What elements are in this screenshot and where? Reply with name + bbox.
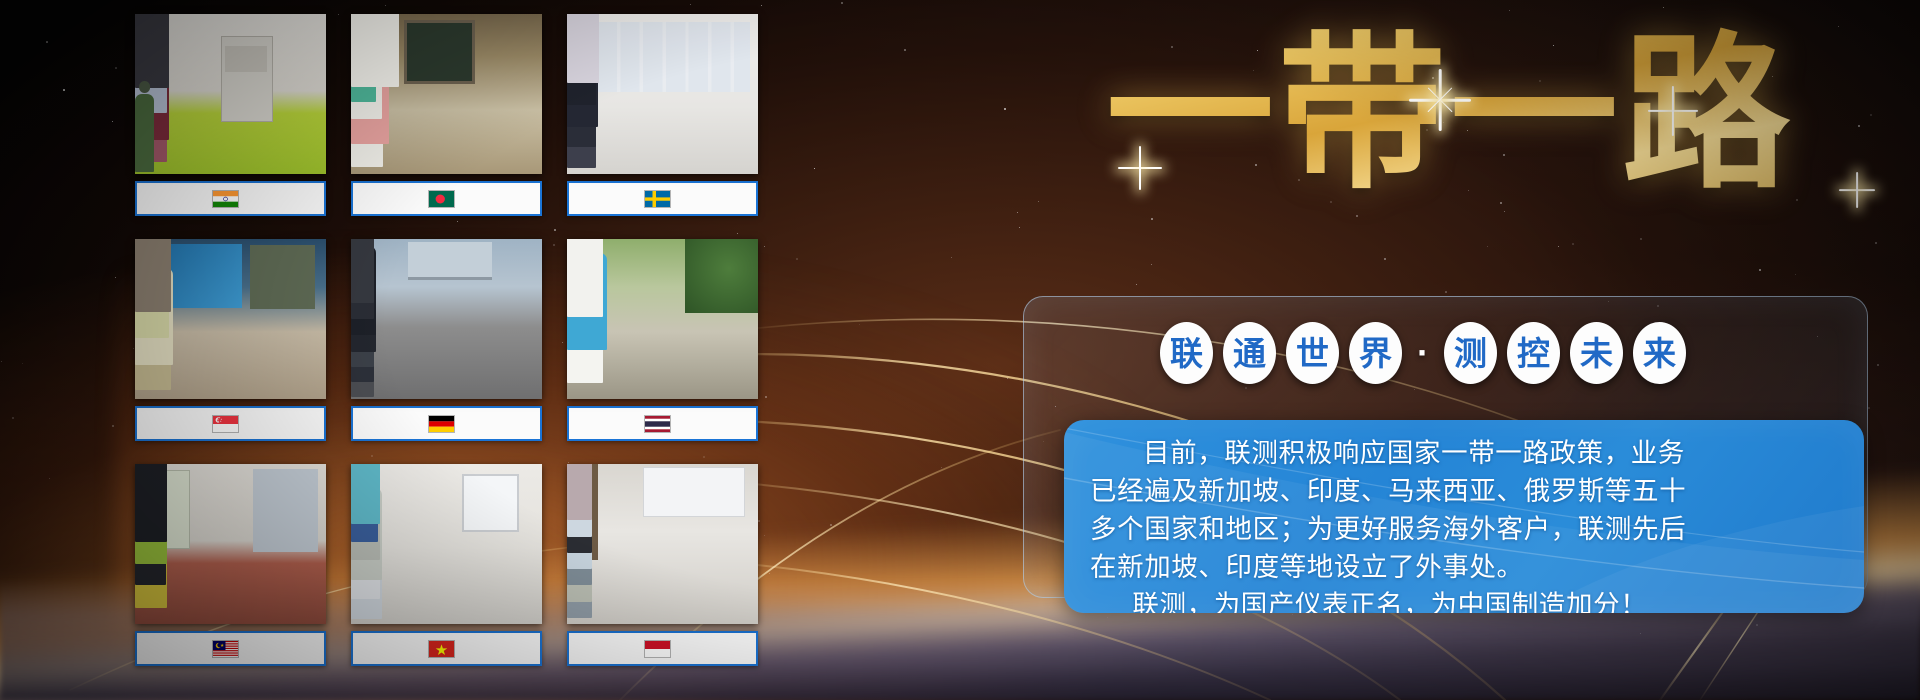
slogan-badge: 未 xyxy=(1570,322,1623,384)
slogan-badge: 控 xyxy=(1507,322,1560,384)
calligraphy-headline: 一带一路 xyxy=(1000,8,1900,218)
country-label[interactable] xyxy=(567,631,758,666)
flag-sweden-icon xyxy=(644,190,671,208)
photo-people xyxy=(567,49,758,174)
country-photo[interactable] xyxy=(135,14,326,174)
country-card[interactable] xyxy=(567,464,758,674)
country-photo[interactable] xyxy=(351,14,542,174)
country-label[interactable] xyxy=(351,631,542,666)
slogan-badge: 测 xyxy=(1444,322,1497,384)
flag-malaysia-icon xyxy=(212,640,239,658)
country-card[interactable] xyxy=(567,239,758,449)
country-photo[interactable] xyxy=(135,464,326,624)
flag-thailand-icon xyxy=(644,415,671,433)
country-photo[interactable] xyxy=(567,239,758,399)
photo-people xyxy=(351,49,542,174)
info-panel: 目前，联测积极响应国家一带一路政策，业务已经遍及新加坡、印度、马来西亚、俄罗斯等… xyxy=(1064,420,1864,613)
country-label[interactable] xyxy=(351,181,542,216)
flag-singapore-icon xyxy=(212,415,239,433)
country-card[interactable] xyxy=(135,239,326,449)
country-photo[interactable] xyxy=(567,14,758,174)
banner-stage: 一带一路 联通世界·测控未来 目前，联测积极响应国家一带一路政策，业务已经遍及新… xyxy=(0,0,1920,700)
photo-people xyxy=(567,274,758,399)
calligraphy-text: 一带一路 xyxy=(1000,8,1900,218)
country-label[interactable] xyxy=(351,406,542,441)
photo-people xyxy=(567,499,758,624)
slogan-badge: 界 xyxy=(1349,322,1402,384)
country-photo[interactable] xyxy=(351,239,542,399)
info-paragraph-line: 已经遍及新加坡、印度、马来西亚、俄罗斯等五十 xyxy=(1090,473,1838,511)
country-photo-grid xyxy=(135,14,760,686)
country-card[interactable] xyxy=(567,14,758,224)
photo-people xyxy=(135,499,326,624)
photo-people xyxy=(351,274,542,399)
info-paragraph-line: 目前，联测积极响应国家一带一路政策，业务 xyxy=(1090,435,1838,473)
flag-bangladesh-icon xyxy=(428,190,455,208)
flag-germany-icon xyxy=(428,415,455,433)
info-paragraph-line: 多个国家和地区；为更好服务海外客户，联测先后 xyxy=(1090,511,1838,549)
flag-indonesia-icon xyxy=(644,640,671,658)
country-card[interactable] xyxy=(135,14,326,224)
flag-india-icon xyxy=(212,190,239,208)
country-label[interactable] xyxy=(567,406,758,441)
country-card[interactable] xyxy=(351,14,542,224)
country-photo[interactable] xyxy=(135,239,326,399)
info-paragraph-line: 联测，为国产仪表正名，为中国制造加分！ xyxy=(1090,587,1838,613)
country-label[interactable] xyxy=(135,631,326,666)
slogan-separator-dot: · xyxy=(1412,322,1434,384)
country-photo[interactable] xyxy=(567,464,758,624)
slogan-badge: 来 xyxy=(1633,322,1686,384)
photo-people xyxy=(135,274,326,399)
country-label[interactable] xyxy=(135,406,326,441)
country-photo[interactable] xyxy=(351,464,542,624)
slogan-badges: 联通世界·测控未来 xyxy=(1160,322,1686,384)
info-paragraph: 目前，联测积极响应国家一带一路政策，业务已经遍及新加坡、印度、马来西亚、俄罗斯等… xyxy=(1064,420,1864,613)
info-paragraph-line: 在新加坡、印度等地设立了外事处。 xyxy=(1090,549,1838,587)
country-card[interactable] xyxy=(135,464,326,674)
slogan-badge: 联 xyxy=(1160,322,1213,384)
slogan-badge: 世 xyxy=(1286,322,1339,384)
slogan-badge: 通 xyxy=(1223,322,1276,384)
country-label[interactable] xyxy=(135,181,326,216)
photo-people xyxy=(351,499,542,624)
country-card[interactable] xyxy=(351,464,542,674)
country-card[interactable] xyxy=(351,239,542,449)
country-label[interactable] xyxy=(567,181,758,216)
flag-vietnam-icon xyxy=(428,640,455,658)
photo-people xyxy=(135,49,326,174)
